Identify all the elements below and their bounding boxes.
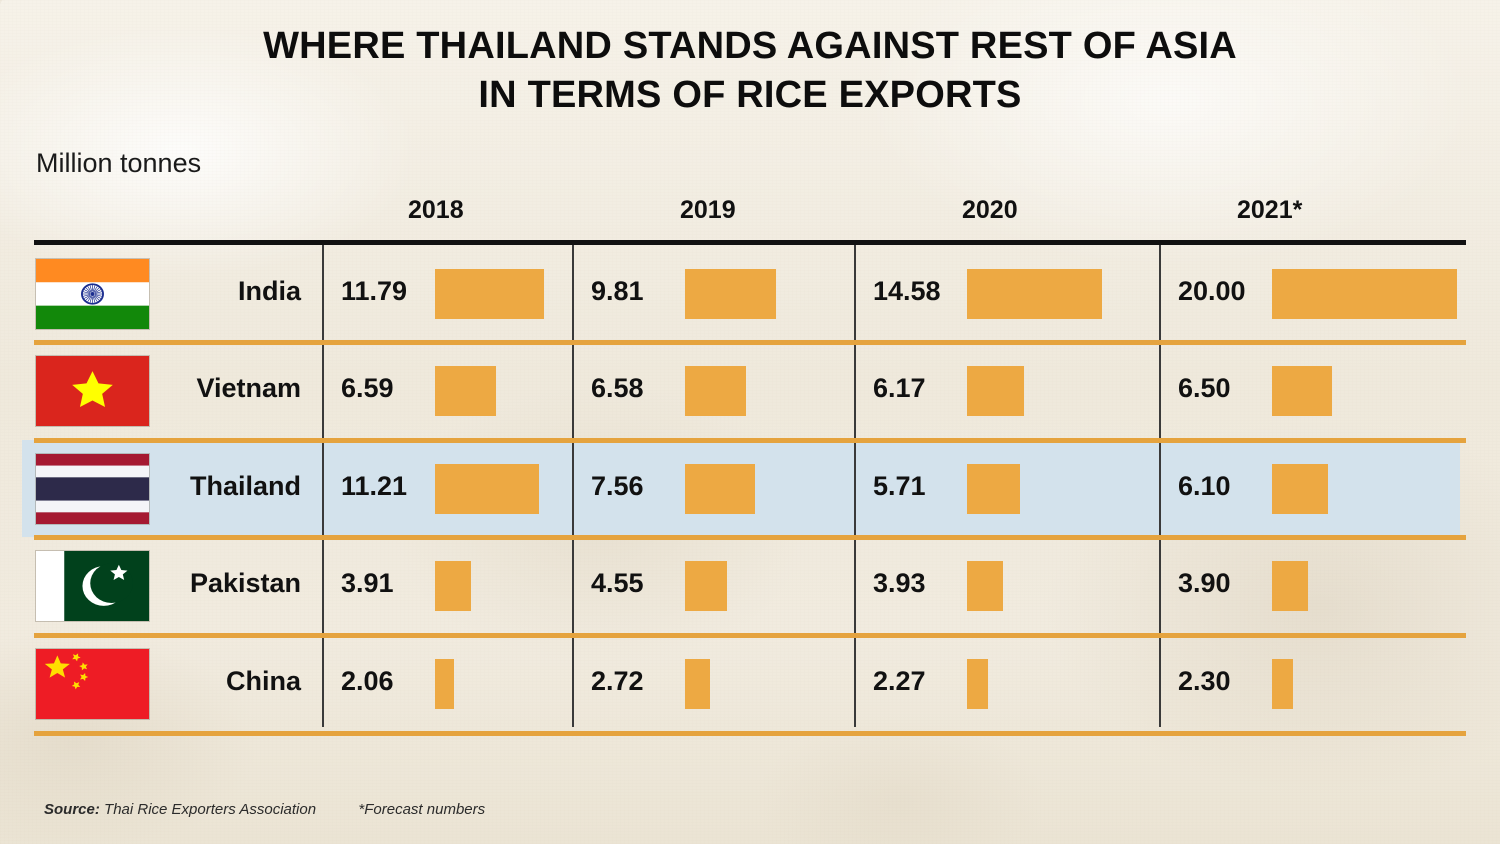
bar-china-2018 <box>435 659 454 709</box>
bar-india-2019 <box>685 269 776 319</box>
value-vietnam-2018: 6.59 <box>341 373 441 404</box>
value-vietnam-2019: 6.58 <box>591 373 691 404</box>
value-india-2019: 9.81 <box>591 276 691 307</box>
value-china-2021: 2.30 <box>1178 666 1278 697</box>
row-separator <box>34 340 1466 345</box>
bar-thailand-2019 <box>685 464 755 514</box>
thailand-flag <box>35 453 150 525</box>
units-label: Million tonnes <box>36 148 201 179</box>
chart-title-line2: IN TERMS OF RICE EXPORTS <box>0 71 1500 120</box>
country-name: China <box>161 666 301 697</box>
column-divider-2020 <box>854 245 856 727</box>
chart-title-line1: WHERE THAILAND STANDS AGAINST REST OF AS… <box>0 22 1500 71</box>
row-separator <box>34 535 1466 540</box>
bar-thailand-2018 <box>435 464 539 514</box>
india-flag <box>35 258 150 330</box>
source-value: Thai Rice Exporters Association <box>104 801 316 818</box>
bar-china-2021 <box>1272 659 1293 709</box>
bar-india-2020 <box>967 269 1102 319</box>
table-top-rule <box>34 240 1466 245</box>
value-vietnam-2020: 6.17 <box>873 373 973 404</box>
value-thailand-2018: 11.21 <box>341 471 441 502</box>
row-separator <box>34 633 1466 638</box>
value-thailand-2019: 7.56 <box>591 471 691 502</box>
pakistan-flag <box>35 550 150 622</box>
value-thailand-2021: 6.10 <box>1178 471 1278 502</box>
column-divider-2021 <box>1159 245 1161 727</box>
value-pakistan-2020: 3.93 <box>873 568 973 599</box>
bar-vietnam-2020 <box>967 366 1024 416</box>
value-pakistan-2021: 3.90 <box>1178 568 1278 599</box>
bar-pakistan-2018 <box>435 561 471 611</box>
value-india-2018: 11.79 <box>341 276 441 307</box>
bar-vietnam-2019 <box>685 366 746 416</box>
bar-india-2018 <box>435 269 544 319</box>
value-china-2019: 2.72 <box>591 666 691 697</box>
bar-india-2021 <box>1272 269 1457 319</box>
country-name: Vietnam <box>161 373 301 404</box>
value-pakistan-2018: 3.91 <box>341 568 441 599</box>
vietnam-flag <box>35 355 150 427</box>
column-header-2018: 2018 <box>408 196 464 225</box>
value-india-2021: 20.00 <box>1178 276 1278 307</box>
value-china-2018: 2.06 <box>341 666 441 697</box>
bar-thailand-2020 <box>967 464 1020 514</box>
value-vietnam-2021: 6.50 <box>1178 373 1278 404</box>
row-separator <box>34 438 1466 443</box>
chart-title: WHERE THAILAND STANDS AGAINST REST OF AS… <box>0 22 1500 119</box>
bar-thailand-2021 <box>1272 464 1328 514</box>
country-name: Thailand <box>161 471 301 502</box>
column-header-2020: 2020 <box>962 196 1018 225</box>
value-india-2020: 14.58 <box>873 276 973 307</box>
value-thailand-2020: 5.71 <box>873 471 973 502</box>
bar-pakistan-2019 <box>685 561 727 611</box>
column-divider-2018 <box>322 245 324 727</box>
country-name: Pakistan <box>161 568 301 599</box>
bar-china-2019 <box>685 659 710 709</box>
bar-vietnam-2021 <box>1272 366 1332 416</box>
source-label: Source: <box>44 801 100 818</box>
value-china-2020: 2.27 <box>873 666 973 697</box>
value-pakistan-2019: 4.55 <box>591 568 691 599</box>
table-bottom-rule <box>34 731 1466 736</box>
bar-china-2020 <box>967 659 988 709</box>
column-header-2019: 2019 <box>680 196 736 225</box>
bar-pakistan-2021 <box>1272 561 1308 611</box>
forecast-note: *Forecast numbers <box>358 801 485 818</box>
source-footer: Source: Thai Rice Exporters Association … <box>44 801 485 818</box>
country-name: India <box>161 276 301 307</box>
bar-pakistan-2020 <box>967 561 1003 611</box>
china-flag <box>35 648 150 720</box>
bar-vietnam-2018 <box>435 366 496 416</box>
column-header-2021: 2021* <box>1237 196 1302 225</box>
column-divider-2019 <box>572 245 574 727</box>
